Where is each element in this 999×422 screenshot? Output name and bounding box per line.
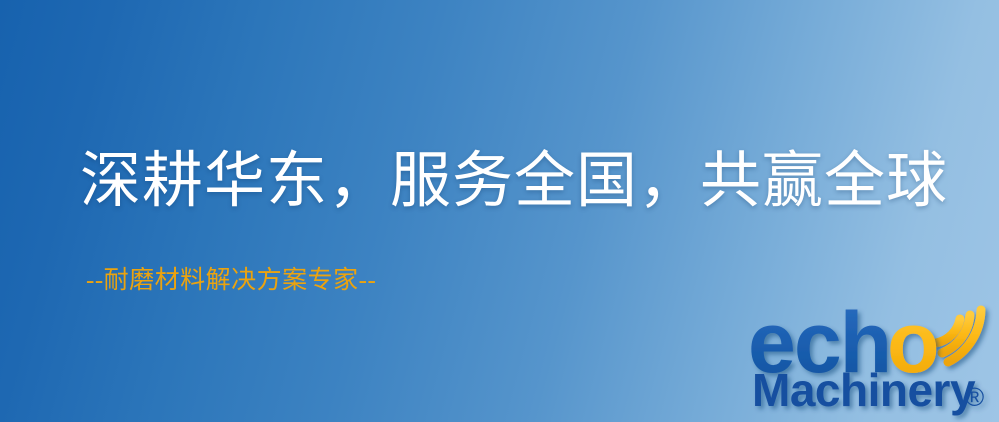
logo-subword-machinery: Machinery ® xyxy=(752,364,999,420)
svg-text:®: ® xyxy=(965,382,984,412)
signal-arcs-icon xyxy=(936,310,981,362)
svg-text:Machinery: Machinery xyxy=(752,364,976,416)
banner-subtitle: --耐磨材料解决方案专家-- xyxy=(86,266,376,296)
echo-machinery-logo[interactable]: ech o Machinery ® xyxy=(748,296,999,422)
banner-headline: 深耕华东，服务全国，共赢全球 xyxy=(80,148,948,215)
promo-banner: 深耕华东，服务全国，共赢全球 --耐磨材料解决方案专家-- xyxy=(0,0,999,422)
